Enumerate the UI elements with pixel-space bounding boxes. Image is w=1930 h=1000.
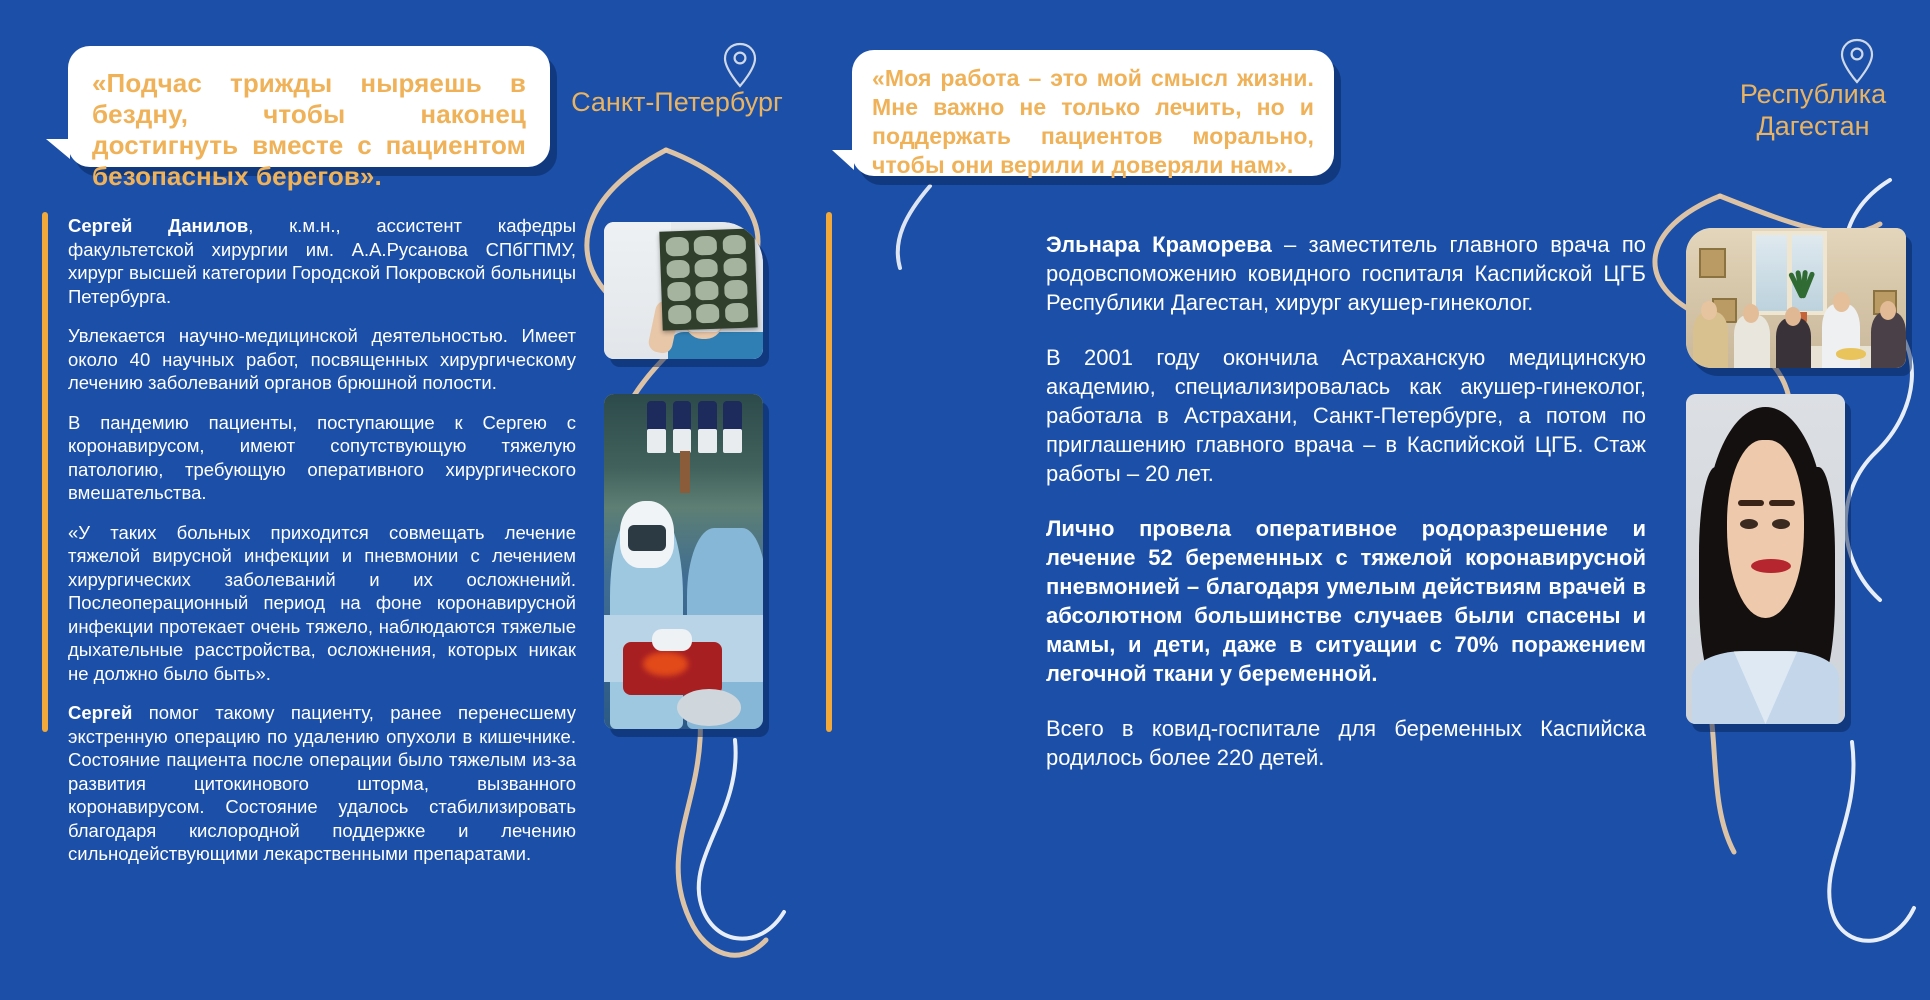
location-label-right: Республика Дагестан — [1700, 78, 1926, 142]
paragraph-3: В пандемию пациенты, поступающие к Серге… — [68, 411, 576, 505]
bio-text-left: Сергей Данилов, к.м.н., ассистент кафедр… — [68, 214, 576, 866]
paragraph-4: Всего в ковид-госпитале для беременных К… — [1046, 714, 1646, 772]
panel-dagestan: «Моя работа – это мой смысл жизни. Мне в… — [965, 0, 1930, 1000]
quote-text-right: «Моя работа – это мой смысл жизни. Мне в… — [872, 64, 1314, 180]
photo-operating-room — [604, 394, 763, 729]
paragraph-1: Эльнара Краморева – заместитель главного… — [1046, 230, 1646, 317]
map-pin-icon — [723, 42, 757, 88]
accent-bar-right — [826, 212, 832, 732]
paragraph-2: Увлекается научно-медицинской деятельнос… — [68, 324, 576, 395]
bio-text-right: Эльнара Краморева – заместитель главного… — [1046, 230, 1646, 772]
photo-doctor-ct-scan — [604, 222, 763, 359]
paragraph-1: Сергей Данилов, к.м.н., ассистент кафедр… — [68, 214, 576, 308]
bubble-tail-right — [832, 150, 854, 170]
photo-doctor-ct-scan-image — [604, 222, 763, 359]
photo-operating-room-image — [604, 394, 763, 729]
bubble-tail-left — [46, 139, 70, 159]
panel-saint-petersburg: «Подчас трижды ныряешь в бездну, чтобы н… — [0, 0, 960, 1000]
quote-bubble-left: «Подчас трижды ныряешь в бездну, чтобы н… — [68, 46, 550, 167]
poster-canvas: «Подчас трижды ныряешь в бездну, чтобы н… — [0, 0, 1930, 1000]
photo-medical-staff-group — [1686, 228, 1906, 368]
photo-medical-staff-group-image — [1686, 228, 1906, 368]
paragraph-5: Сергей помог такому пациенту, ранее пере… — [68, 701, 576, 866]
person-name-sergey: Сергей Данилов — [68, 215, 248, 236]
location-label-left: Санкт-Петербург — [570, 86, 784, 118]
paragraph-2: В 2001 году окончила Астраханскую медици… — [1046, 343, 1646, 488]
quote-text-left: «Подчас трижды ныряешь в бездну, чтобы н… — [92, 68, 526, 192]
quote-bubble-right: «Моя работа – это мой смысл жизни. Мне в… — [852, 50, 1334, 176]
person-name-elnara: Эльнара Краморева — [1046, 232, 1272, 257]
accent-bar-left — [42, 212, 48, 732]
paragraph-4-quote: «У таких больных приходится совмещать ле… — [68, 521, 576, 686]
photo-portrait-elnara-image — [1686, 394, 1845, 724]
photo-portrait-elnara — [1686, 394, 1845, 724]
paragraph-3-highlight: Лично провела оперативное родоразрешение… — [1046, 514, 1646, 688]
person-name-sergey-2: Сергей — [68, 702, 132, 723]
